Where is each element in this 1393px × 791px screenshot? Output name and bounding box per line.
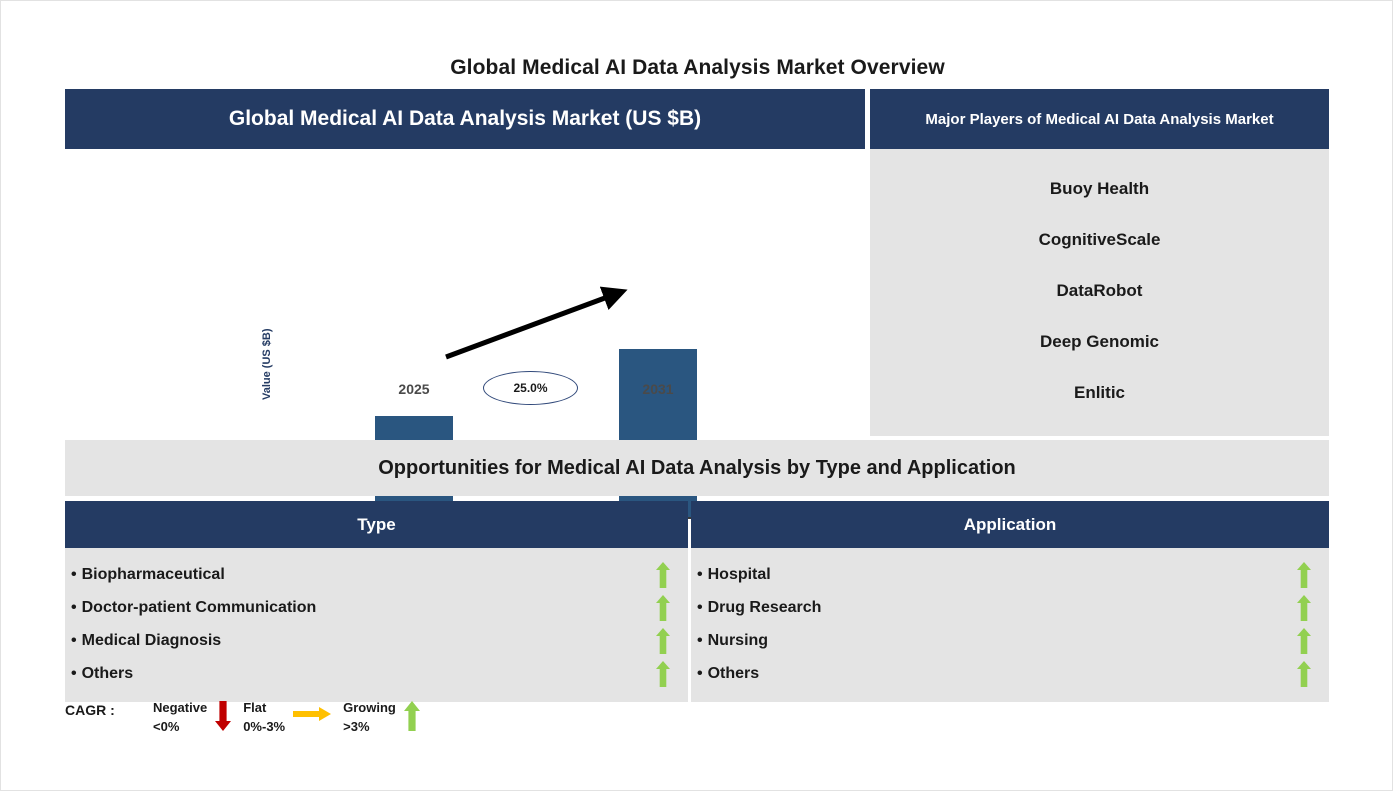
arrow-up-icon bbox=[1297, 661, 1311, 687]
cagr-callout: 25.0% bbox=[483, 371, 578, 405]
application-column: Application •Hospital •Drug Research •Nu… bbox=[691, 501, 1329, 702]
legend-entry-flat: Flat 0%-3% bbox=[231, 699, 331, 737]
list-item: •Medical Diagnosis bbox=[65, 624, 688, 657]
arrow-down-icon bbox=[207, 699, 231, 731]
type-column: Type •Biopharmaceutical •Doctor-patient … bbox=[65, 501, 688, 702]
application-item-label-1: •Drug Research bbox=[697, 599, 821, 617]
player-item: Deep Genomic bbox=[1040, 332, 1159, 352]
cagr-legend: CAGR : Negative <0% Flat 0%-3% Growing >… bbox=[65, 699, 485, 741]
application-item-label-2: •Nursing bbox=[697, 632, 768, 650]
type-item-label-3: •Others bbox=[71, 665, 133, 683]
type-item-text-2: Medical Diagnosis bbox=[82, 632, 222, 649]
arrow-up-icon bbox=[656, 562, 670, 588]
arrow-right-icon bbox=[285, 699, 331, 721]
list-item: •Hospital bbox=[691, 558, 1329, 591]
arrow-up-icon bbox=[656, 661, 670, 687]
bullet-icon: • bbox=[697, 632, 708, 649]
bullet-icon: • bbox=[71, 566, 82, 583]
bullet-icon: • bbox=[71, 599, 82, 616]
x-tick-2025: 2025 bbox=[354, 381, 474, 397]
list-item: •Drug Research bbox=[691, 591, 1329, 624]
application-item-text-0: Hospital bbox=[708, 566, 771, 583]
player-item: DataRobot bbox=[1057, 281, 1143, 301]
legend-entry-negative: Negative <0% bbox=[153, 699, 231, 737]
market-panel-header: Global Medical AI Data Analysis Market (… bbox=[65, 89, 865, 149]
legend-flat-range: 0%-3% bbox=[243, 718, 285, 737]
arrow-up-icon bbox=[656, 595, 670, 621]
page-title: Global Medical AI Data Analysis Market O… bbox=[1, 56, 1393, 80]
bullet-icon: • bbox=[71, 665, 82, 682]
type-item-label-1: •Doctor-patient Communication bbox=[71, 599, 316, 617]
list-item: •Biopharmaceutical bbox=[65, 558, 688, 591]
players-panel-header: Major Players of Medical AI Data Analysi… bbox=[870, 89, 1329, 149]
legend-growing-label: Growing bbox=[343, 699, 396, 718]
type-column-header: Type bbox=[65, 501, 688, 548]
legend-entry-growing: Growing >3% bbox=[331, 699, 420, 737]
arrow-up-icon bbox=[396, 699, 420, 731]
player-item: Buoy Health bbox=[1050, 179, 1149, 199]
bullet-icon: • bbox=[697, 599, 708, 616]
application-item-text-3: Others bbox=[708, 665, 760, 682]
x-tick-2031: 2031 bbox=[598, 381, 718, 397]
list-item: •Nursing bbox=[691, 624, 1329, 657]
cagr-legend-title: CAGR : bbox=[65, 699, 153, 718]
arrow-up-icon bbox=[1297, 595, 1311, 621]
arrow-up-icon bbox=[1297, 628, 1311, 654]
major-players-panel: Major Players of Medical AI Data Analysi… bbox=[870, 89, 1329, 436]
application-column-header: Application bbox=[691, 501, 1329, 548]
legend-negative-label: Negative bbox=[153, 699, 207, 718]
application-item-text-2: Nursing bbox=[708, 632, 768, 649]
type-item-text-0: Biopharmaceutical bbox=[82, 566, 225, 583]
list-item: •Doctor-patient Communication bbox=[65, 591, 688, 624]
type-column-body: •Biopharmaceutical •Doctor-patient Commu… bbox=[65, 548, 688, 702]
application-item-text-1: Drug Research bbox=[708, 599, 822, 616]
bullet-icon: • bbox=[697, 665, 708, 682]
bullet-icon: • bbox=[697, 566, 708, 583]
application-item-label-0: •Hospital bbox=[697, 566, 771, 584]
opportunities-banner: Opportunities for Medical AI Data Analys… bbox=[65, 440, 1329, 496]
type-item-text-1: Doctor-patient Communication bbox=[82, 599, 317, 616]
type-item-label-0: •Biopharmaceutical bbox=[71, 566, 225, 584]
legend-negative-range: <0% bbox=[153, 718, 207, 737]
application-item-label-3: •Others bbox=[697, 665, 759, 683]
type-item-text-3: Others bbox=[82, 665, 134, 682]
legend-flat-label: Flat bbox=[243, 699, 285, 718]
arrow-up-icon bbox=[656, 628, 670, 654]
legend-growing-text: Growing >3% bbox=[343, 699, 396, 737]
y-axis-label: Value (US $B) bbox=[261, 300, 273, 400]
infographic-page: Global Medical AI Data Analysis Market O… bbox=[0, 0, 1393, 791]
list-item: •Others bbox=[691, 657, 1329, 690]
legend-flat-text: Flat 0%-3% bbox=[243, 699, 285, 737]
players-list: Buoy Health CognitiveScale DataRobot Dee… bbox=[870, 149, 1329, 436]
player-item: CognitiveScale bbox=[1039, 230, 1161, 250]
application-column-body: •Hospital •Drug Research •Nursing •Other… bbox=[691, 548, 1329, 702]
bullet-icon: • bbox=[71, 632, 82, 649]
list-item: •Others bbox=[65, 657, 688, 690]
type-item-label-2: •Medical Diagnosis bbox=[71, 632, 221, 650]
legend-negative-text: Negative <0% bbox=[153, 699, 207, 737]
legend-growing-range: >3% bbox=[343, 718, 396, 737]
arrow-up-icon bbox=[1297, 562, 1311, 588]
player-item: Enlitic bbox=[1074, 383, 1125, 403]
